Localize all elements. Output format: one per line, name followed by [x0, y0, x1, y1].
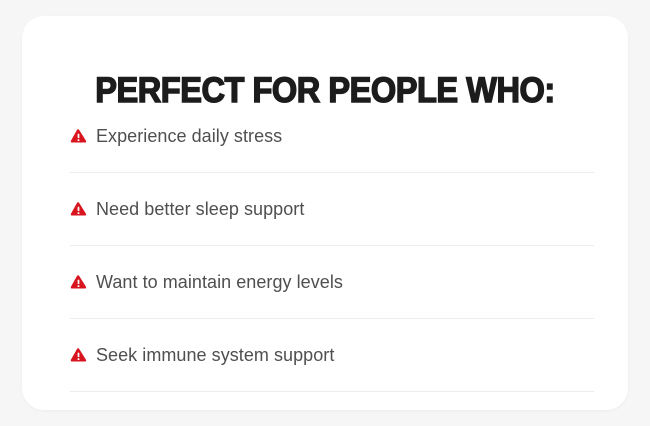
list-item: Need better sleep support [70, 172, 594, 227]
screenshot-root: PERFECT FOR PEOPLE WHO: Experience daily… [0, 0, 650, 426]
page-title: PERFECT FOR PEOPLE WHO: [43, 71, 607, 111]
list-item: Want to maintain energy levels [70, 245, 594, 300]
list-item-label: Experience daily stress [96, 125, 282, 147]
warning-triangle-icon [70, 347, 87, 364]
list-item: Experience daily stress [70, 118, 594, 154]
perfect-for-people-card: PERFECT FOR PEOPLE WHO: Experience daily… [22, 16, 628, 410]
benefit-list: Experience daily stress Need better slee… [70, 118, 594, 410]
warning-triangle-icon [70, 128, 87, 145]
list-item-label: Need better sleep support [96, 198, 304, 220]
list-item: Desire natural stress management [70, 391, 594, 410]
warning-triangle-icon [70, 201, 87, 218]
list-item: Seek immune system support [70, 318, 594, 373]
list-item-label: Seek immune system support [96, 344, 334, 366]
warning-triangle-icon [70, 274, 87, 291]
list-item-label: Want to maintain energy levels [96, 271, 343, 293]
